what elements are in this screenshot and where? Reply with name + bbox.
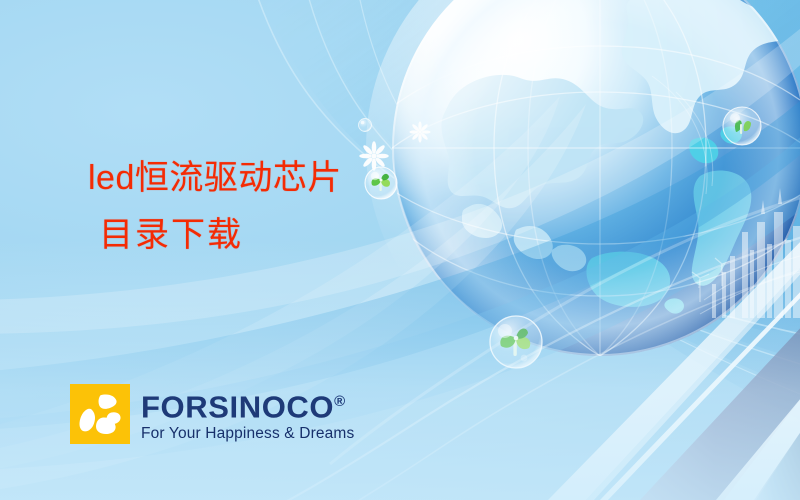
registered-trademark-symbol: ® [334,393,345,410]
company-logo: FORSINOCO® For Your Happiness & Dreams [70,384,354,444]
soap-bubble [723,107,761,145]
banner-image: led恒流驱动芯片 目录下载 FORSINOCO® [0,0,800,500]
bottom-glow [0,240,800,500]
logo-wordmark: FORSINOCO® For Your Happiness & Dreams [141,384,354,443]
daisy-flower [409,121,430,142]
soap-bubble [359,119,372,132]
page-title: led恒流驱动芯片 目录下载 [88,161,508,252]
headline-line-2: 目录下载 [99,218,508,252]
brand-text: FORSINOCO [141,389,334,424]
pinwheel-petals-icon [70,384,130,444]
brand-name: FORSINOCO® [141,385,354,423]
pinwheel-petals-mark [70,384,130,444]
headline-line-1: led恒流驱动芯片 [88,159,342,197]
brand-tagline: For Your Happiness & Dreams [141,425,354,443]
